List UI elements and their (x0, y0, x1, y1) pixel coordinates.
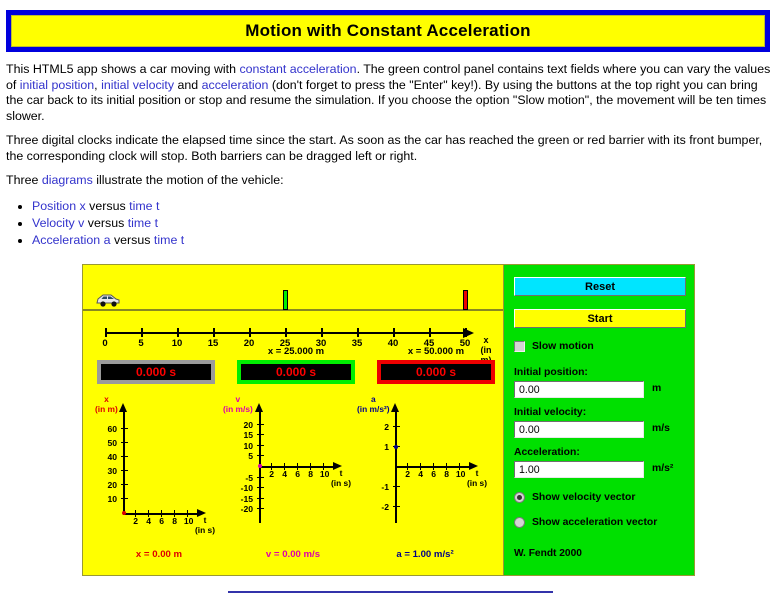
ruler-tick-label: 0 (102, 338, 107, 349)
ruler-tick-label: 10 (172, 338, 183, 349)
chart2-x-tick: 2 (269, 469, 274, 479)
link-time-t-1[interactable]: time t (129, 199, 159, 213)
link-constant-acceleration[interactable]: constant acceleration (239, 62, 356, 76)
simulation-applet[interactable]: 0 5 10 15 20 25 30 35 40 45 50 x (in m) … (82, 264, 695, 576)
initial-position-unit: m (652, 383, 661, 394)
chart3-y-unit: (in m/s²) (357, 405, 390, 415)
chart2-y-tick: 5 (227, 451, 253, 461)
car-sprite[interactable] (95, 291, 121, 309)
acceleration-input[interactable] (514, 461, 644, 478)
chart2-y-tick: 20 (227, 420, 253, 430)
green-barrier[interactable] (283, 290, 288, 310)
road-line (83, 309, 503, 311)
chart1-y-axis-label: x (in m) (95, 395, 118, 414)
show-velocity-vector-radio[interactable] (514, 492, 525, 503)
initial-position-label: Initial position: (514, 367, 588, 378)
chart3-y-tick: 1 (363, 442, 389, 452)
acceleration-label: Acceleration: (514, 447, 580, 458)
link-time-t-3[interactable]: time t (154, 233, 184, 247)
ruler-unit-symbol: x (477, 335, 495, 345)
start-button[interactable]: Start (514, 309, 686, 328)
show-velocity-vector-row[interactable]: Show velocity vector (514, 492, 635, 503)
initial-velocity-unit: m/s (652, 423, 670, 434)
main-clock-value: 0.000 s (136, 365, 176, 379)
link-acceleration[interactable]: acceleration (202, 78, 269, 92)
show-acceleration-vector-label: Show acceleration vector (532, 517, 657, 528)
link-time-t-2[interactable]: time t (128, 216, 158, 230)
list-item-mid: versus (111, 233, 154, 247)
page-title: Motion with Constant Acceleration (245, 21, 531, 41)
chart1-x-tick: 4 (146, 516, 151, 526)
acceleration-unit: m/s² (652, 463, 673, 474)
chart1-y-tick: 50 (91, 438, 117, 448)
link-initial-position[interactable]: initial position (20, 78, 94, 92)
title-banner: Motion with Constant Acceleration (6, 10, 770, 52)
green-barrier-position-label: x = 25.000 m (233, 346, 359, 357)
chart3-x-unit: (in s) (467, 479, 487, 489)
link-acceleration-a[interactable]: Acceleration a (32, 233, 111, 247)
chart1-x-tick: 8 (172, 516, 177, 526)
chart3-y-tick: -1 (359, 482, 389, 492)
chart2-x-unit: (in s) (331, 479, 351, 489)
show-velocity-vector-label: Show velocity vector (532, 492, 635, 503)
simulation-stage[interactable]: 0 5 10 15 20 25 30 35 40 45 50 x (in m) … (83, 265, 503, 575)
title-inner-panel: Motion with Constant Acceleration (11, 15, 765, 47)
reset-button[interactable]: Reset (514, 277, 686, 296)
red-barrier-position-label: x = 50.000 m (373, 346, 499, 357)
chart1-x-axis-label: t (in s) (195, 516, 215, 535)
chart1-y-axis (123, 411, 125, 515)
chart-position-vs-time: x (in m) 60 50 40 30 20 10 (91, 395, 221, 545)
chart3-x-tick: 8 (444, 469, 449, 479)
chart3-x-tick: 6 (431, 469, 436, 479)
show-acceleration-vector-row[interactable]: Show acceleration vector (514, 517, 657, 528)
list-item-mid: versus (84, 216, 127, 230)
link-initial-velocity[interactable]: initial velocity (101, 78, 174, 92)
chart3-data-point (394, 445, 398, 449)
author-credit: W. Fendt 2000 (514, 548, 582, 559)
chart3-x-tick: 10 (456, 469, 466, 479)
link-velocity-v[interactable]: Velocity v (32, 216, 84, 230)
initial-velocity-label: Initial velocity: (514, 407, 586, 418)
velocity-readout: v = 0.00 m/s (223, 549, 363, 560)
acceleration-readout: a = 1.00 m/s² (355, 549, 495, 560)
link-position-x[interactable]: Position x (32, 199, 86, 213)
slow-motion-label: Slow motion (532, 341, 594, 352)
slow-motion-row[interactable]: Slow motion (514, 341, 594, 352)
chart2-x-tick: 4 (282, 469, 287, 479)
chart3-x-tick: 4 (418, 469, 423, 479)
position-readout: x = 0.00 m (89, 549, 229, 560)
chart-acceleration-vs-time: a (in m/s²) 2 1 -1 -2 2 4 (355, 395, 485, 545)
chart3-x-tick: 2 (405, 469, 410, 479)
radio-pip (517, 495, 522, 500)
diagram-link-list: Position x versus time t Velocity v vers… (6, 198, 771, 249)
chart1-y-arrow-icon (119, 403, 127, 412)
chart1-y-unit: (in m) (95, 405, 118, 415)
control-panel: Reset Start Slow motion Initial position… (503, 265, 694, 575)
initial-position-input[interactable] (514, 381, 644, 398)
chart2-y-tick: 10 (227, 441, 253, 451)
car-icon (95, 291, 121, 309)
intro-paragraph-3: Three diagrams illustrate the motion of … (6, 173, 771, 189)
red-clock-value: 0.000 s (416, 365, 456, 379)
chart2-y-axis-label: v (in m/s) (223, 395, 253, 414)
chart1-y-tick: 30 (91, 466, 117, 476)
slow-motion-checkbox[interactable] (514, 341, 525, 352)
chart2-y-arrow-icon (255, 403, 263, 412)
intro-p1-text-a: This HTML5 app shows a car moving with (6, 62, 239, 76)
green-clock-value: 0.000 s (276, 365, 316, 379)
chart2-y-tick: 15 (227, 430, 253, 440)
chart-velocity-vs-time: v (in m/s) 20 15 10 5 -5 -10 (223, 395, 353, 545)
chart2-x-tick: 6 (295, 469, 300, 479)
chart2-y-tick: -10 (223, 483, 253, 493)
list-item: Acceleration a versus time t (32, 232, 771, 249)
chart3-y-tick: 2 (363, 422, 389, 432)
intro-p3-text-b: illustrate the motion of the vehicle: (93, 173, 284, 187)
ruler-tick-label: 15 (208, 338, 219, 349)
initial-velocity-input[interactable] (514, 421, 644, 438)
chart2-data-point (258, 464, 262, 468)
green-clock: 0.000 s (237, 360, 355, 384)
chart3-y-arrow-icon (391, 403, 399, 412)
red-clock: 0.000 s (377, 360, 495, 384)
chart1-y-tick: 10 (91, 494, 117, 504)
chart1-y-tick: 60 (91, 424, 117, 434)
chart2-x-tick: 10 (320, 469, 330, 479)
intro-p3-text-a: Three (6, 173, 42, 187)
chart1-x-tick: 10 (184, 516, 194, 526)
chart3-y-axis-label: a (in m/s²) (357, 395, 390, 414)
intro-p1-text-d: and (174, 78, 202, 92)
chart1-x-tick: 2 (133, 516, 138, 526)
chart2-x-axis-label: t (in s) (331, 469, 351, 488)
chart1-y-tick: 40 (91, 452, 117, 462)
chart2-y-unit: (in m/s) (223, 405, 253, 415)
link-diagrams[interactable]: diagrams (42, 173, 93, 187)
main-clock: 0.000 s (97, 360, 215, 384)
chart1-y-tick: 20 (91, 480, 117, 490)
page-root: Motion with Constant Acceleration This H… (0, 0, 777, 600)
list-item-mid: versus (86, 199, 129, 213)
chart1-x-unit: (in s) (195, 526, 215, 536)
chart1-x-tick: 6 (159, 516, 164, 526)
chart3-x-axis-label: t (in s) (467, 469, 487, 488)
chart3-y-tick: -2 (359, 502, 389, 512)
chart2-x-tick: 8 (308, 469, 313, 479)
show-acceleration-vector-radio[interactable] (514, 517, 525, 528)
red-barrier[interactable] (463, 290, 468, 310)
ruler-tick-label: 5 (138, 338, 143, 349)
list-item: Position x versus time t (32, 198, 771, 215)
description-section: This HTML5 app shows a car moving with c… (6, 62, 771, 249)
chart2-y-tick: -20 (223, 504, 253, 514)
chart2-y-tick: -5 (223, 473, 253, 483)
intro-paragraph-1: This HTML5 app shows a car moving with c… (6, 62, 771, 124)
intro-paragraph-2: Three digital clocks indicate the elapse… (6, 133, 771, 164)
list-item: Velocity v versus time t (32, 215, 771, 232)
chart1-data-point (122, 511, 126, 515)
bottom-divider (228, 591, 553, 593)
chart2-y-tick: -15 (223, 494, 253, 504)
